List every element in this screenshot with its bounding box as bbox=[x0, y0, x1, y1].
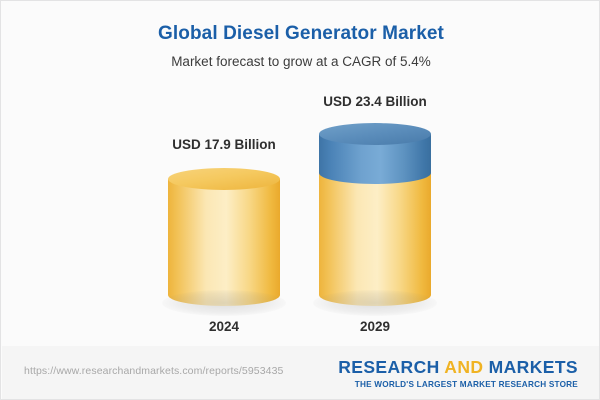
value-label-2029: USD 23.4 Billion bbox=[299, 94, 451, 109]
category-label-2029: 2029 bbox=[319, 319, 431, 334]
logo-wordmark: RESEARCH AND MARKETS bbox=[338, 357, 578, 378]
report-url[interactable]: https://www.researchandmarkets.com/repor… bbox=[24, 365, 283, 377]
cylinder-2029-shape bbox=[319, 123, 431, 318]
chart-card: Global Diesel Generator Market Market fo… bbox=[0, 0, 600, 400]
logo-word-and: AND bbox=[444, 357, 483, 377]
logo-tagline: THE WORLD'S LARGEST MARKET RESEARCH STOR… bbox=[338, 380, 578, 389]
plot-area: USD 17.9 Billion USD 23.4 Billion bbox=[1, 1, 600, 346]
bar-2029[interactable] bbox=[319, 123, 431, 323]
brand-logo[interactable]: RESEARCH AND MARKETS THE WORLD'S LARGEST… bbox=[338, 357, 578, 389]
logo-word-research: RESEARCH bbox=[338, 357, 444, 377]
footer: https://www.researchandmarkets.com/repor… bbox=[2, 346, 600, 400]
bar-2024[interactable] bbox=[168, 168, 280, 323]
logo-word-markets: MARKETS bbox=[483, 357, 578, 377]
category-label-2024: 2024 bbox=[168, 319, 280, 334]
bar-shadow bbox=[162, 290, 286, 316]
value-label-2024: USD 17.9 Billion bbox=[148, 137, 300, 152]
bar-shadow bbox=[313, 290, 437, 316]
